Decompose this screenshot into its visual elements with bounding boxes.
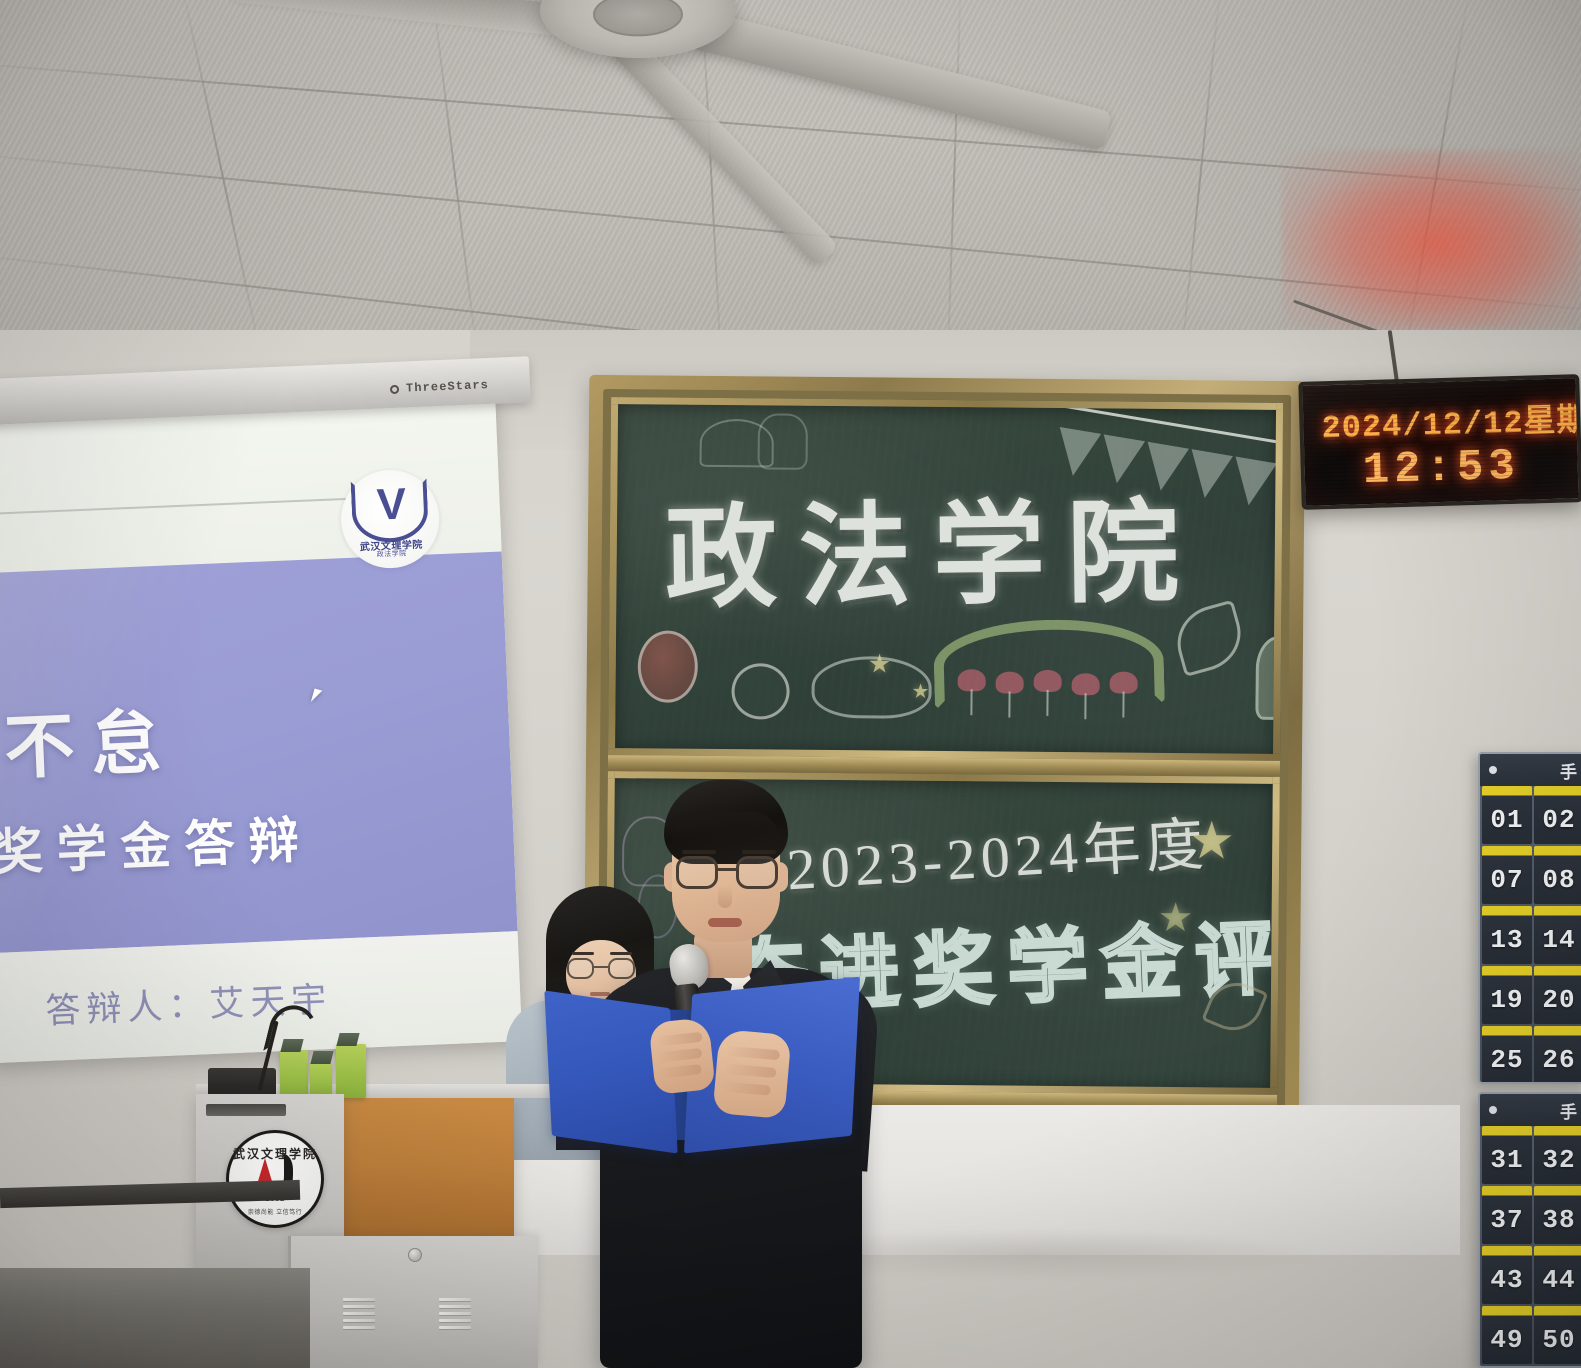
phone-pocket-panel-1: 手 01 02 07 08 13 14 19 20 25 26 [1478,752,1581,1084]
phone-pocket-cell[interactable]: 19 [1482,966,1532,1024]
led-clock-time: 12:53 [1304,440,1578,498]
pocket-header-label: 手 [1560,758,1577,783]
pocket-number: 07 [1490,865,1523,895]
presenter-hand-holding-folder [712,1029,791,1119]
slide-university-logo: V 武汉文理学院 政法学院 [339,468,441,570]
podium-slot [206,1104,286,1116]
projector-brand-label: ThreeStars [406,378,490,395]
attendee-eyebrow [610,952,632,955]
pocket-number: 19 [1490,985,1523,1015]
phone-pocket-cell[interactable]: 25 [1482,1026,1532,1084]
chalk-star-icon: ★ [868,648,892,679]
phone-pocket-cell[interactable]: 13 [1482,906,1532,964]
podium-university-emblem: 武汉文理学院 2002 崇德尚能 立信笃行 [226,1130,324,1228]
metal-cabinet [288,1236,538,1368]
presenter-hand-holding-mic [648,1017,715,1095]
cabinet-vent [439,1298,471,1333]
phone-pocket-header: 手 [1480,754,1581,786]
presenter-eyebrow [742,850,776,854]
chalk-apple-drawing [731,663,789,720]
drink-carton [310,1062,332,1098]
phone-pocket-cell[interactable]: 43 [1482,1246,1532,1304]
phone-pocket-grid: 31 32 37 38 43 44 49 50 55 56 [1480,1126,1581,1368]
cabinet-vent [343,1298,375,1333]
projector-screen: V 武汉文理学院 政法学院 迩 行不怠 进奖学金答辩 答辩人：艾天宇 [0,382,522,1064]
attendee-glasses-icon [566,958,636,980]
pocket-number: 08 [1542,865,1575,895]
slide-line-2: 行不怠 [0,685,178,797]
chalk-flowers-drawing [951,669,1151,723]
wooden-desk-front [318,1094,514,1236]
cabinet-lock-icon[interactable] [408,1248,422,1262]
phone-pocket-cell[interactable]: 38 [1534,1186,1581,1244]
chalk-star-icon: ★ [1188,811,1235,871]
pocket-header-label: 手 [1560,1098,1577,1123]
attendee-eyebrow [572,952,594,955]
phone-pocket-cell[interactable]: 50 [1534,1306,1581,1364]
drink-carton [280,1050,308,1098]
phone-pocket-cell[interactable]: 26 [1534,1026,1581,1084]
phone-pocket-panel-2: 手 31 32 37 38 43 44 49 50 55 56 [1478,1092,1581,1368]
classroom-scene: V 武汉文理学院 政法学院 迩 行不怠 进奖学金答辩 答辩人：艾天宇 Three… [0,0,1581,1368]
phone-pocket-cell[interactable]: 49 [1482,1306,1532,1364]
phone-pocket-cell[interactable]: 32 [1534,1126,1581,1184]
pocket-number: 50 [1542,1325,1575,1355]
phone-pocket-cell[interactable]: 07 [1482,846,1532,904]
drink-carton [336,1044,366,1098]
presenter-nose [718,886,732,908]
phone-pocket-cell[interactable]: 44 [1534,1246,1581,1304]
pocket-number: 26 [1542,1045,1575,1075]
pocket-dot-icon [1489,766,1497,774]
pocket-number: 43 [1490,1265,1523,1295]
chalk-tomato-drawing [637,630,698,703]
pocket-number: 14 [1542,925,1575,955]
phone-pocket-cell[interactable]: 37 [1482,1186,1532,1244]
podium-logo-motto: 崇德尚能 立信笃行 [229,1207,321,1216]
pocket-number: 31 [1490,1145,1523,1175]
phone-pocket-header: 手 [1480,1094,1581,1126]
phone-pocket-cell[interactable]: 08 [1534,846,1581,904]
pocket-number: 20 [1542,985,1575,1015]
phone-pocket-cell[interactable]: 20 [1534,966,1581,1024]
led-clock-date: 2024/12/12星期四 [1321,393,1581,447]
led-clock-glow-reflection [1282,150,1581,330]
pocket-number: 49 [1490,1325,1523,1355]
chalk-cactus-drawing [1255,636,1283,721]
phone-pocket-cell[interactable]: 14 [1534,906,1581,964]
logo-v-mark: V [376,480,403,531]
brand-logo-icon [390,385,399,394]
pocket-number: 32 [1542,1145,1575,1175]
presenter-mouth [708,918,742,927]
pocket-number: 25 [1490,1045,1523,1075]
presenter-glasses-icon [676,856,778,890]
blackboard-upper-panel: 政法学院 ★ ★ [608,397,1283,761]
phone-pocket-cell[interactable]: 01 [1482,786,1532,844]
pocket-number: 01 [1490,805,1523,835]
chalk-star-icon: ★ [911,679,929,704]
pocket-number: 13 [1490,925,1523,955]
led-clock-display: 2024/12/12星期四 12:53 [1298,374,1581,510]
chalk-star-icon: ★ [1157,895,1193,941]
presenter-eyebrow [682,850,716,854]
wall-scuff-marks [840,1230,1320,1280]
blackboard-title: 政法学院 [664,462,1202,631]
pocket-number: 38 [1542,1205,1575,1235]
phone-pocket-cell[interactable]: 31 [1482,1126,1532,1184]
pocket-number: 37 [1490,1205,1523,1235]
phone-pocket-cell[interactable]: 02 [1534,786,1581,844]
presenter-hair-fringe [672,812,780,848]
pocket-dot-icon [1489,1106,1497,1114]
floor [0,1268,310,1368]
phone-pocket-grid: 01 02 07 08 13 14 19 20 25 26 [1480,786,1581,1084]
pocket-number: 44 [1542,1265,1575,1295]
pocket-number: 02 [1542,805,1575,835]
